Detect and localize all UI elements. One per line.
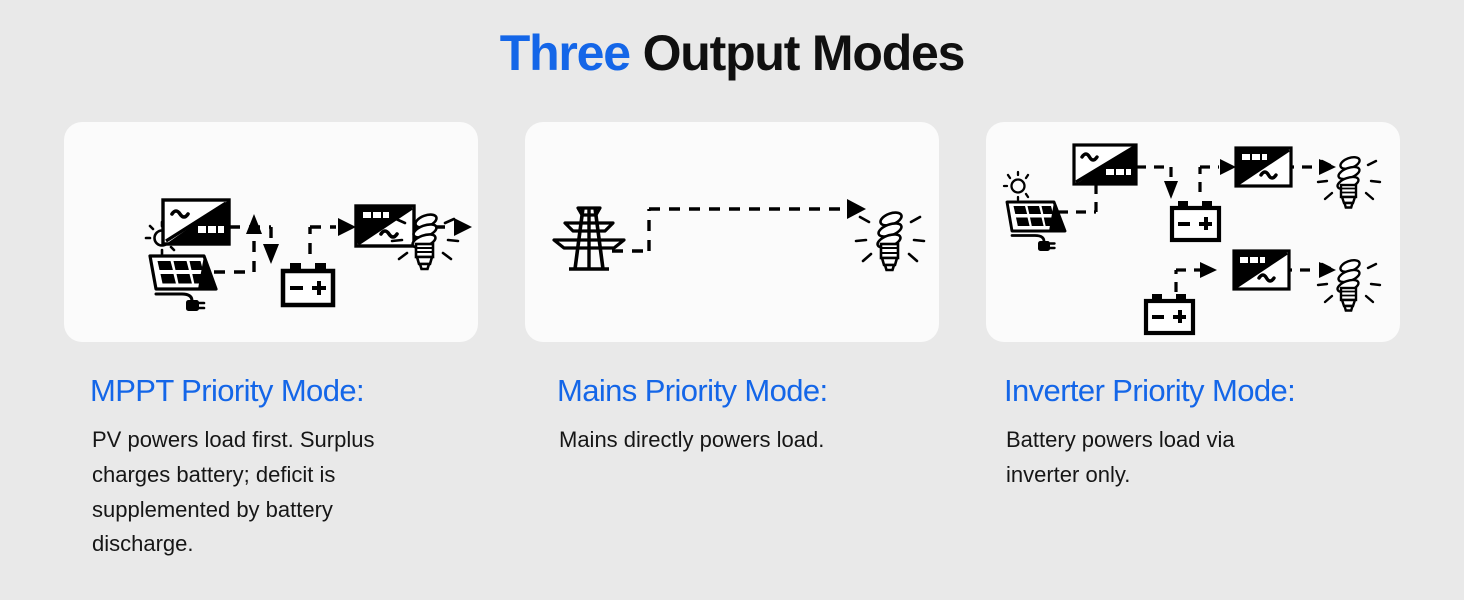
inverter-dc-bars-symbol [1240,257,1265,263]
light-bulb-icon [392,212,458,269]
arrow-up-into-charger-icon [246,214,262,234]
light-bulb-icon [1318,258,1380,311]
solar-panel-plug [186,300,204,311]
mode-body-inverter: Battery powers load via inverter only. [986,423,1306,493]
light-bulb-icon [1318,155,1380,208]
page-title-rest: Output Modes [630,25,964,81]
charger-dc-bars-symbol [1106,169,1131,175]
mode-heading-inverter: Inverter Priority Mode: [986,372,1400,409]
inverter-dc-bars-symbol [363,212,389,218]
battery-minus-symbol [1178,222,1190,226]
inverter-diagram-svg [986,122,1400,342]
battery-icon [1146,294,1193,333]
mode-column-inverter: Inverter Priority Mode: Battery powers l… [986,122,1400,562]
page-title-accent-word: Three [500,25,630,81]
page-title: Three Output Modes [0,24,1464,82]
ac-dc-charger-icon [163,200,229,244]
battery-minus-symbol [1152,315,1164,319]
mode-heading-mppt: MPPT Priority Mode: [64,372,478,409]
battery-icon [1172,201,1219,240]
arrow-right-into-inverter-icon-top [1220,159,1236,175]
battery-icon [283,263,333,305]
solar-panel-cord [1012,236,1044,242]
arrow-down-into-battery-icon [1164,181,1178,199]
battery-minus-symbol [290,286,303,290]
mppt-priority-flow-diagram [64,122,478,342]
solar-panel-plug [1038,241,1055,251]
arrow-down-into-battery-icon [263,244,279,264]
charger-dc-bars-symbol [198,226,224,233]
mode-body-mains: Mains directly powers load. [525,423,829,458]
arrow-right-into-inverter-icon [338,218,356,236]
inverter-priority-flow-diagram [986,122,1400,342]
modes-columns: MPPT Priority Mode: PV powers load first… [64,122,1400,562]
mode-heading-mains: Mains Priority Mode: [525,372,939,409]
arrow-right-into-inverter-icon-bottom [1200,262,1217,278]
mode-column-mppt: MPPT Priority Mode: PV powers load first… [64,122,478,562]
dc-ac-inverter-icon [1236,148,1291,186]
power-tower-icon [554,208,624,269]
solar-panel-cord [156,294,192,301]
mode-body-mppt: PV powers load first. Surplus charges ba… [64,423,422,562]
mode-column-mains: Mains Priority Mode: Mains directly powe… [525,122,939,562]
mppt-diagram-svg [64,122,478,342]
ac-dc-charger-icon [1074,145,1136,184]
light-bulb-icon [856,210,924,270]
mains-priority-flow-diagram [525,122,939,342]
dc-ac-inverter-icon [356,206,414,246]
solar-panel-icon [1004,172,1065,251]
dc-ac-inverter-icon [1234,251,1289,289]
inverter-dc-bars-symbol [1242,154,1267,160]
mains-diagram-svg [525,122,939,342]
arrow-right-into-bulb-icon [454,218,472,236]
arrow-right-into-bulb-icon [847,199,866,219]
